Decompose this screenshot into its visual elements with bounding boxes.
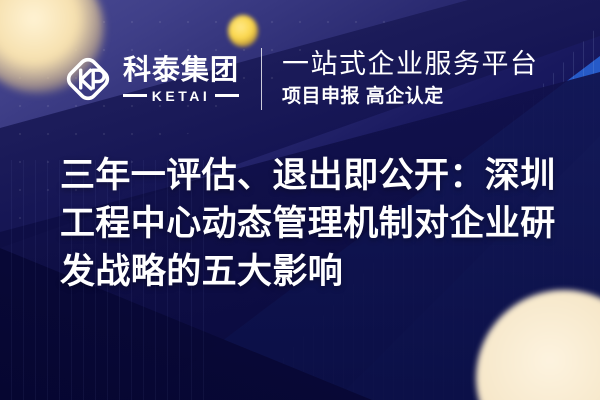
tagline-primary: 一站式企业服务平台 xyxy=(282,50,539,80)
ketai-diamond-monogram-icon xyxy=(62,53,114,105)
logo-company-name-cn: 科泰集团 xyxy=(123,56,239,84)
logo-en-row: KETAI xyxy=(123,89,239,103)
company-logo: 科泰集团 KETAI xyxy=(62,53,239,105)
header-divider xyxy=(261,48,262,110)
promo-banner: 科泰集团 KETAI 一站式企业服务平台 项目申报 高企认定 三年一评估、退出即… xyxy=(0,0,600,400)
banner-title: 三年一评估、退出即公开：深圳工程中心动态管理机制对企业研发战略的五大影响 xyxy=(60,152,566,296)
logo-company-name-en: KETAI xyxy=(152,89,210,103)
logo-dash-right xyxy=(215,94,239,97)
logo-dash-left xyxy=(123,94,147,97)
header-tagline: 一站式企业服务平台 项目申报 高企认定 xyxy=(282,50,539,108)
banner-header: 科泰集团 KETAI 一站式企业服务平台 项目申报 高企认定 xyxy=(0,36,600,122)
logo-wordmark: 科泰集团 KETAI xyxy=(123,56,239,103)
tagline-secondary: 项目申报 高企认定 xyxy=(282,87,539,108)
